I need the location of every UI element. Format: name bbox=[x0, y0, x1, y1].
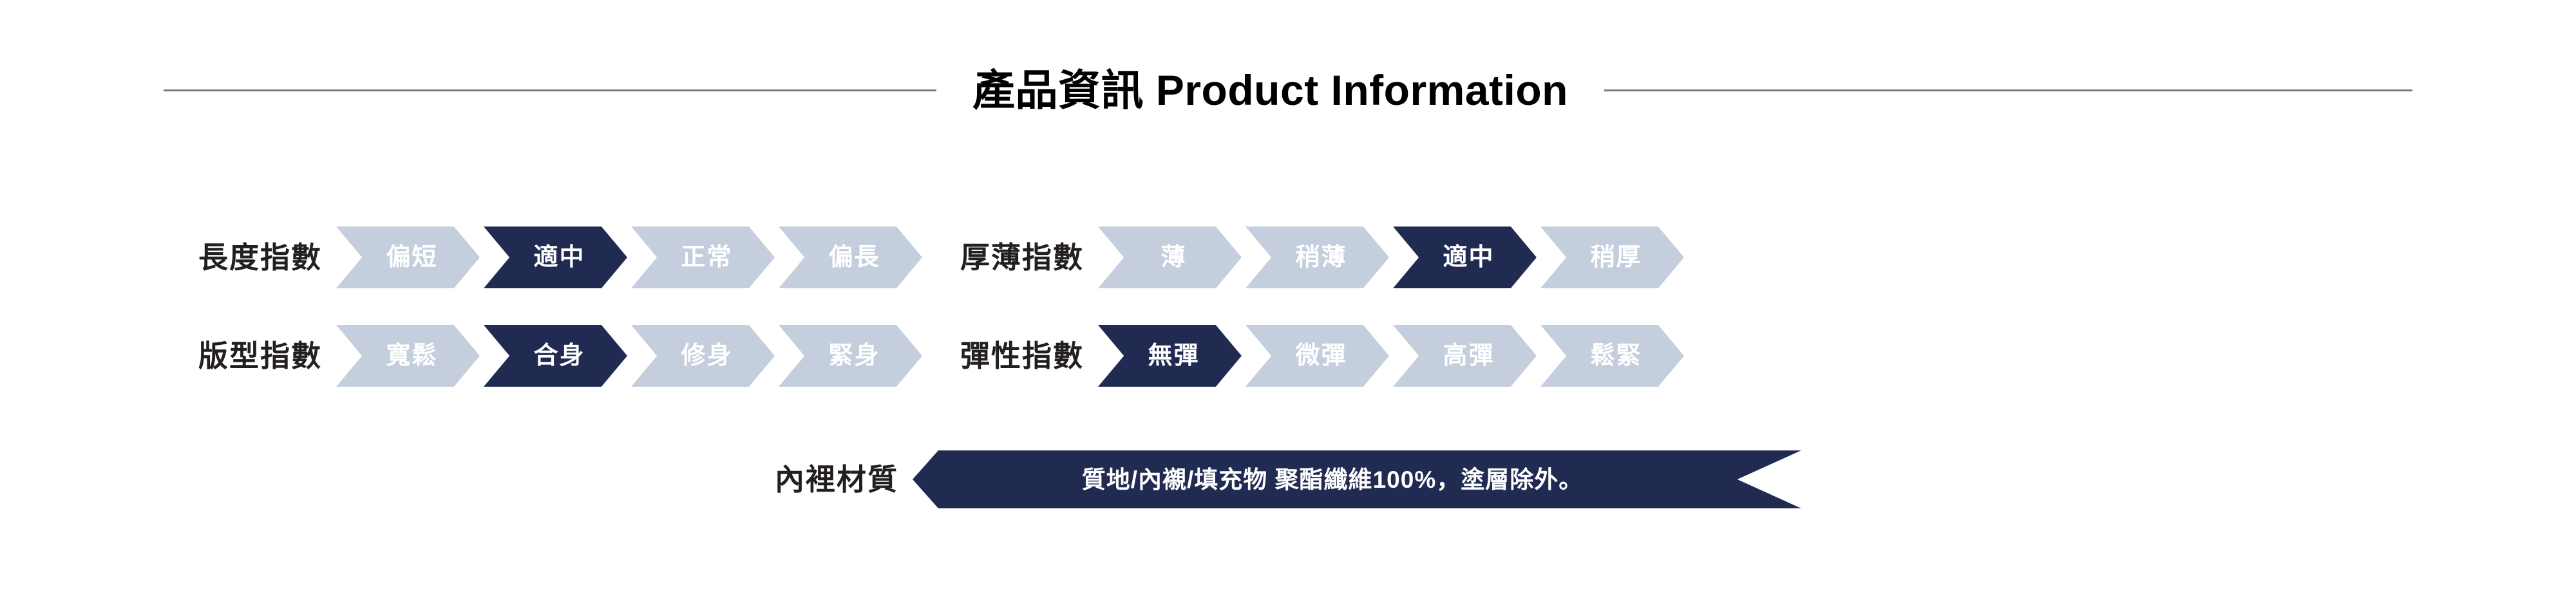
index-option-label: 適中 bbox=[1443, 245, 1494, 270]
index-option-label: 稍薄 bbox=[1295, 245, 1347, 270]
index-option-label: 高彈 bbox=[1443, 344, 1494, 368]
index-option-label: 稍厚 bbox=[1590, 245, 1642, 270]
index-group-label: 長度指數 bbox=[198, 227, 322, 288]
material-bar: 質地/內襯/填充物 聚酯纖維100%，塗層除外。 bbox=[913, 450, 1801, 508]
index-option-active[interactable]: 適中 bbox=[1393, 227, 1537, 288]
index-option-active[interactable]: 無彈 bbox=[1098, 325, 1242, 387]
index-scale: 偏短適中正常偏長 bbox=[336, 227, 926, 288]
index-option-label: 適中 bbox=[533, 245, 585, 270]
index-scale: 薄稍薄適中稍厚 bbox=[1098, 227, 1688, 288]
index-group-left: 長度指數偏短適中正常偏長 bbox=[198, 227, 926, 288]
index-option-label: 修身 bbox=[681, 344, 732, 368]
index-rows-container: 長度指數偏短適中正常偏長厚薄指數薄稍薄適中稍厚版型指數寬鬆合身修身緊身彈性指數無… bbox=[0, 227, 2576, 423]
index-option[interactable]: 偏長 bbox=[779, 227, 922, 288]
material-label: 內裡材質 bbox=[775, 450, 898, 508]
index-option-label: 偏長 bbox=[828, 245, 880, 270]
title-rule-right bbox=[1604, 89, 2412, 91]
index-group-left: 版型指數寬鬆合身修身緊身 bbox=[198, 325, 926, 387]
index-scale: 寬鬆合身修身緊身 bbox=[336, 325, 926, 387]
material-row: 內裡材質 質地/內襯/填充物 聚酯纖維100%，塗層除外。 bbox=[0, 450, 2576, 508]
index-option-label: 鬆緊 bbox=[1590, 344, 1642, 368]
index-option[interactable]: 緊身 bbox=[779, 325, 922, 387]
index-option-label: 緊身 bbox=[828, 344, 880, 368]
page-title: 產品資訊 Product Information bbox=[972, 69, 1568, 111]
index-option[interactable]: 高彈 bbox=[1393, 325, 1537, 387]
index-group-label: 厚薄指數 bbox=[960, 227, 1084, 288]
index-option[interactable]: 薄 bbox=[1098, 227, 1242, 288]
index-option-label: 薄 bbox=[1160, 245, 1186, 270]
index-option[interactable]: 鬆緊 bbox=[1540, 325, 1684, 387]
index-row: 長度指數偏短適中正常偏長厚薄指數薄稍薄適中稍厚 bbox=[0, 227, 2576, 288]
index-option[interactable]: 寬鬆 bbox=[336, 325, 480, 387]
index-option[interactable]: 正常 bbox=[631, 227, 775, 288]
index-option-label: 無彈 bbox=[1148, 344, 1199, 368]
title-rule-left bbox=[164, 89, 936, 91]
index-option-active[interactable]: 適中 bbox=[484, 227, 627, 288]
index-group-label: 版型指數 bbox=[198, 325, 322, 387]
index-option[interactable]: 稍厚 bbox=[1540, 227, 1684, 288]
index-option-label: 合身 bbox=[533, 344, 585, 368]
index-option[interactable]: 微彈 bbox=[1245, 325, 1389, 387]
index-group-right: 彈性指數無彈微彈高彈鬆緊 bbox=[960, 325, 1688, 387]
index-group-label: 彈性指數 bbox=[960, 325, 1084, 387]
index-option-label: 微彈 bbox=[1295, 344, 1347, 368]
index-option[interactable]: 修身 bbox=[631, 325, 775, 387]
index-option-label: 正常 bbox=[681, 245, 732, 270]
page-header: 產品資訊 Product Information bbox=[0, 59, 2576, 121]
index-group-right: 厚薄指數薄稍薄適中稍厚 bbox=[960, 227, 1688, 288]
index-scale: 無彈微彈高彈鬆緊 bbox=[1098, 325, 1688, 387]
index-row: 版型指數寬鬆合身修身緊身彈性指數無彈微彈高彈鬆緊 bbox=[0, 325, 2576, 387]
index-option[interactable]: 稍薄 bbox=[1245, 227, 1389, 288]
index-option-label: 偏短 bbox=[386, 245, 437, 270]
index-option[interactable]: 偏短 bbox=[336, 227, 480, 288]
index-option-active[interactable]: 合身 bbox=[484, 325, 627, 387]
material-value: 質地/內襯/填充物 聚酯纖維100%，塗層除外。 bbox=[1082, 468, 1583, 492]
index-option-label: 寬鬆 bbox=[386, 344, 437, 368]
